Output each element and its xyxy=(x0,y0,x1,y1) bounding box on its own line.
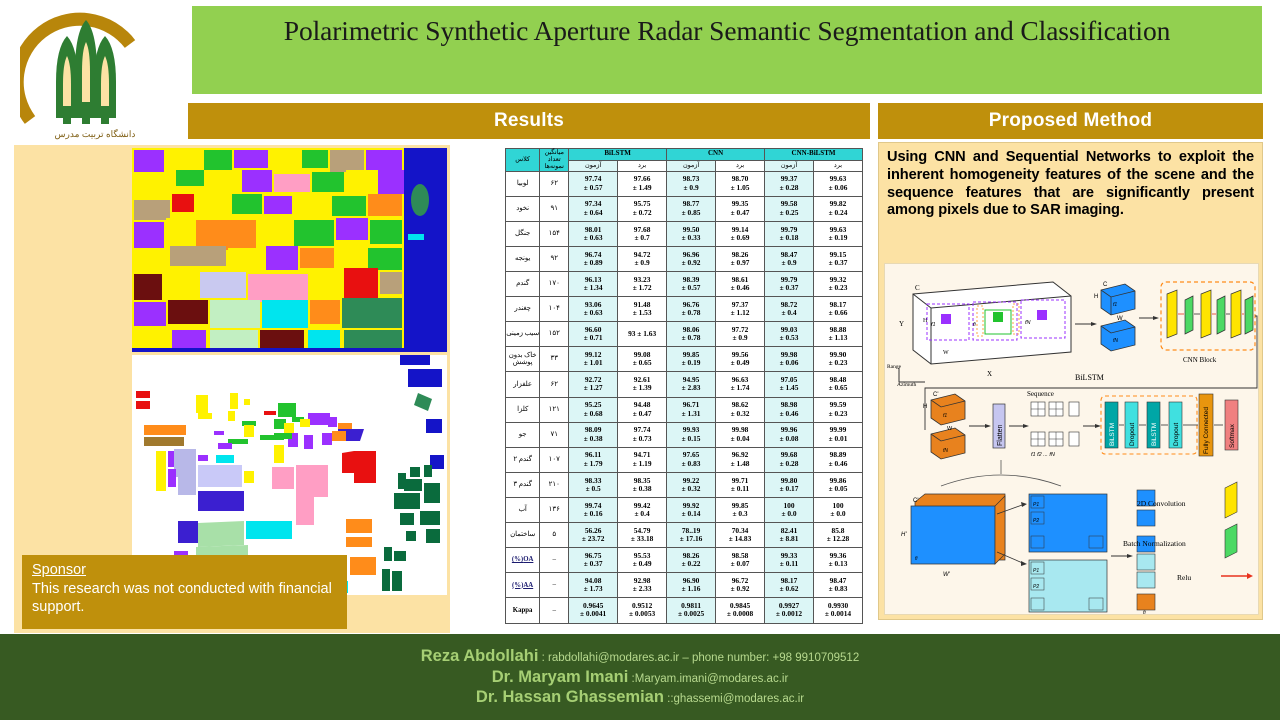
cell-value-3-1: 94.72± 0.9 xyxy=(618,246,667,271)
cell-class-2: جنگل xyxy=(506,221,540,246)
table-row: Kappa–0.9645± 0.00410.9512± 0.00530.9811… xyxy=(506,598,863,623)
cell-value-10-2: 99.93± 0.15 xyxy=(667,422,716,447)
cell-value-14-2: 78..19± 17.16 xyxy=(667,523,716,548)
cell-value-3-0: 96.74± 0.89 xyxy=(569,246,618,271)
cell-value-1-5: 99.82± 0.24 xyxy=(814,196,863,221)
cell-value-15-1: 95.53± 0.49 xyxy=(618,548,667,573)
table-row: گندم۱۷۰96.13± 1.3493.23± 1.7298.39± 0.57… xyxy=(506,271,863,296)
cell-value-1-2: 98.77± 0.85 xyxy=(667,196,716,221)
label-bilstm-1: BiLSTM xyxy=(1109,423,1116,446)
cell-value-4-5: 99.32± 0.23 xyxy=(814,271,863,296)
label-Cprime2: C' xyxy=(913,498,918,504)
cell-value-13-1: 99.42± 0.4 xyxy=(618,497,667,522)
cell-value-17-3: 0.9845± 0.0008 xyxy=(716,598,765,623)
table-row: AA(%)–94.08± 1.7392.98± 2.3396.90± 1.169… xyxy=(506,573,863,598)
contact-line-3: Dr. Hassan Ghassemian ::ghassemi@modares… xyxy=(476,688,804,707)
results-label: Results xyxy=(494,110,564,132)
label-W2: W xyxy=(1117,316,1123,322)
label-H3: H xyxy=(923,404,927,410)
cell-value-8-1: 92.61± 1.39 xyxy=(618,372,667,397)
cell-value-8-2: 94.95± 2.83 xyxy=(667,372,716,397)
author-contact-2: :Maryam.imani@modares.ac.ir xyxy=(628,673,788,685)
classification-result-map xyxy=(132,148,447,352)
cell-value-4-4: 99.79± 0.37 xyxy=(765,271,814,296)
cell-count-8: ۶۲ xyxy=(540,372,569,397)
university-logo: دانشگاه تربیت مدرس xyxy=(0,0,190,150)
cell-value-9-1: 94.48± 0.47 xyxy=(618,397,667,422)
cell-value-6-2: 98.06± 0.78 xyxy=(667,322,716,347)
cell-value-1-3: 99.35± 0.47 xyxy=(716,196,765,221)
label-p11: P1 xyxy=(1033,502,1039,508)
cell-value-12-3: 99.71± 0.11 xyxy=(716,472,765,497)
cell-count-6: ۱۵۲ xyxy=(540,322,569,347)
th-sub-2-1: برد xyxy=(814,160,863,171)
table-row: OA(%)–96.75± 0.3795.53± 0.4998.26± 0.229… xyxy=(506,548,863,573)
author-contact-1: : rabdollahi@modares.ac.ir – phone numbe… xyxy=(538,652,859,664)
poster-root: دانشگاه تربیت مدرس Polarimetric Syntheti… xyxy=(0,0,1280,720)
cell-class-4: گندم xyxy=(506,271,540,296)
label-f1c: f1 xyxy=(943,413,947,419)
cell-value-10-0: 98.09± 0.38 xyxy=(569,422,618,447)
legend-relu: Relu xyxy=(1177,573,1191,582)
cell-value-13-4: 100± 0.0 xyxy=(765,497,814,522)
label-X: X xyxy=(987,370,992,378)
label-dropout-2: Dropout xyxy=(1173,423,1180,446)
table-row: جو۷۱98.09± 0.3897.74± 0.7399.93± 0.1599.… xyxy=(506,422,863,447)
cell-class-10: جو xyxy=(506,422,540,447)
cell-class-6: سیب زمینی xyxy=(506,322,540,347)
cell-value-8-0: 92.72± 1.27 xyxy=(569,372,618,397)
cell-value-12-4: 99.80± 0.17 xyxy=(765,472,814,497)
cell-value-16-4: 98.17± 0.62 xyxy=(765,573,814,598)
cell-value-16-2: 96.90± 1.16 xyxy=(667,573,716,598)
section-header-proposed-method: Proposed Method xyxy=(878,103,1263,139)
cell-value-7-1: 99.08± 0.65 xyxy=(618,347,667,372)
cell-value-13-5: 100± 0.0 xyxy=(814,497,863,522)
cell-value-6-0: 96.60± 0.71 xyxy=(569,322,618,347)
cell-class-3: یونجه xyxy=(506,246,540,271)
table-row: ساختمان۵56.26± 23.7254.79± 33.1878..19± … xyxy=(506,523,863,548)
cell-value-8-3: 96.63± 1.74 xyxy=(716,372,765,397)
sponsor-title: Sponsor xyxy=(32,561,339,580)
cell-value-7-5: 99.90± 0.23 xyxy=(814,347,863,372)
th-sub-1-1: برد xyxy=(716,160,765,171)
cell-value-15-0: 96.75± 0.37 xyxy=(569,548,618,573)
cell-count-3: ۹۲ xyxy=(540,246,569,271)
cell-value-14-1: 54.79± 33.18 xyxy=(618,523,667,548)
cell-class-13: آب xyxy=(506,497,540,522)
cell-value-2-5: 99.63± 0.19 xyxy=(814,221,863,246)
cell-value-9-2: 96.71± 1.31 xyxy=(667,397,716,422)
cell-value-2-1: 97.68± 0.7 xyxy=(618,221,667,246)
author-name-2: Dr. Maryam Imani xyxy=(492,668,629,686)
cell-value-11-3: 96.92± 1.48 xyxy=(716,447,765,472)
cell-value-10-1: 97.74± 0.73 xyxy=(618,422,667,447)
label-softmax: Softmax xyxy=(1229,423,1236,448)
table-row: گندم ۳۲۱۰98.33± 0.598.35± 0.3899.22± 0.3… xyxy=(506,472,863,497)
cell-class-1: نخود xyxy=(506,196,540,221)
cell-value-8-4: 97.05± 1.45 xyxy=(765,372,814,397)
proposed-method-panel: Using CNN and Sequential Networks to exp… xyxy=(878,142,1263,620)
cell-count-17: – xyxy=(540,598,569,623)
architecture-diagram: C Y H W X Range Azimuth xyxy=(884,263,1259,615)
cell-class-9: کلزا xyxy=(506,397,540,422)
label-W3: W xyxy=(947,426,953,432)
th-sub-2-0: آزمون xyxy=(765,160,814,171)
cell-value-2-0: 98.01± 0.63 xyxy=(569,221,618,246)
cell-value-0-2: 98.73± 0.9 xyxy=(667,171,716,196)
cell-class-15: OA(%) xyxy=(506,548,540,573)
contact-line-1: Reza Abdollahi : rabdollahi@modares.ac.i… xyxy=(421,647,859,666)
label-Wprime: W' xyxy=(943,572,951,578)
cell-value-12-1: 98.35± 0.38 xyxy=(618,472,667,497)
page-title: Polarimetric Synthetic Aperture Radar Se… xyxy=(284,15,1171,47)
cell-value-15-3: 98.58± 0.07 xyxy=(716,548,765,573)
cell-value-12-5: 99.86± 0.05 xyxy=(814,472,863,497)
cell-value-6-1: 93 ± 1.63 xyxy=(618,322,667,347)
cell-value-9-3: 98.62± 0.32 xyxy=(716,397,765,422)
architecture-diagram-svg: C Y H W X Range Azimuth xyxy=(885,264,1258,614)
label-W: W xyxy=(943,350,949,356)
label-C2: C xyxy=(1103,282,1108,288)
cell-value-5-1: 91.48± 1.53 xyxy=(618,297,667,322)
label-sequence: Sequence xyxy=(1027,390,1054,398)
table-row: گندم ۲۱۰۷96.11± 1.7994.71± 1.1997.65± 0.… xyxy=(506,447,863,472)
method-label: Proposed Method xyxy=(989,110,1152,132)
label-seq-items: f1 f2 ... fN xyxy=(1031,452,1055,458)
th-group-2: CNN-BiLSTM xyxy=(765,149,863,161)
cell-value-2-2: 99.50± 0.33 xyxy=(667,221,716,246)
cell-value-0-4: 99.37± 0.28 xyxy=(765,171,814,196)
cell-count-13: ۱۳۶ xyxy=(540,497,569,522)
table-row: کلزا۱۲۱95.25± 0.6894.48± 0.4796.71± 1.31… xyxy=(506,397,863,422)
cell-class-5: چغندر xyxy=(506,297,540,322)
label-bilstm-2: BiLSTM xyxy=(1151,423,1158,446)
label-azimuth: Azimuth xyxy=(897,382,916,388)
cell-value-7-2: 99.85± 0.19 xyxy=(667,347,716,372)
label-f1: f1 xyxy=(931,322,936,328)
cell-count-9: ۱۲۱ xyxy=(540,397,569,422)
contact-footer: Reza Abdollahi : rabdollahi@modares.ac.i… xyxy=(0,634,1280,720)
cell-class-8: علفزار xyxy=(506,372,540,397)
method-description: Using CNN and Sequential Networks to exp… xyxy=(879,143,1262,224)
cell-value-16-0: 94.08± 1.73 xyxy=(569,573,618,598)
cell-value-17-1: 0.9512± 0.0053 xyxy=(618,598,667,623)
cell-value-3-2: 96.96± 0.92 xyxy=(667,246,716,271)
cell-count-12: ۲۱۰ xyxy=(540,472,569,497)
cell-value-11-0: 96.11± 1.79 xyxy=(569,447,618,472)
cell-value-5-3: 97.37± 1.12 xyxy=(716,297,765,322)
cell-class-14: ساختمان xyxy=(506,523,540,548)
sponsor-box: Sponsor This research was not conducted … xyxy=(22,555,347,629)
table-row: علفزار۶۲92.72± 1.2792.61± 1.3994.95± 2.8… xyxy=(506,372,863,397)
cell-value-7-0: 99.12± 1.01 xyxy=(569,347,618,372)
cell-count-11: ۱۰۷ xyxy=(540,447,569,472)
cell-value-13-0: 99.74± 0.16 xyxy=(569,497,618,522)
poster-title-banner: Polarimetric Synthetic Aperture Radar Se… xyxy=(192,6,1262,94)
cell-value-11-4: 99.68± 0.28 xyxy=(765,447,814,472)
th-sub-1-0: آزمون xyxy=(667,160,716,171)
th-sample-count: میانگین تعداد نمونه‌ها xyxy=(540,149,569,172)
cell-value-2-4: 99.79± 0.18 xyxy=(765,221,814,246)
cell-count-15: – xyxy=(540,548,569,573)
cell-value-11-1: 94.71± 1.19 xyxy=(618,447,667,472)
cell-value-4-3: 98.61± 0.46 xyxy=(716,271,765,296)
cell-value-6-5: 98.88± 1.13 xyxy=(814,322,863,347)
cell-value-5-4: 98.72± 0.4 xyxy=(765,297,814,322)
cell-value-10-5: 99.99± 0.01 xyxy=(814,422,863,447)
label-dropout-1: Dropout xyxy=(1129,423,1136,446)
label-fully-connected: Fully Connected xyxy=(1203,407,1210,454)
cell-count-0: ۶۲ xyxy=(540,171,569,196)
table-row: نخود۹۱97.34± 0.6495.75± 0.7298.77± 0.859… xyxy=(506,196,863,221)
label-flatten: Flatten xyxy=(997,424,1004,446)
label-p21: P2 xyxy=(1033,518,1039,524)
table-row: آب۱۳۶99.74± 0.1699.42± 0.499.92± 0.1499.… xyxy=(506,497,863,522)
results-table: کلاسمیانگین تعداد نمونه‌هاBiLSTMCNNCNN-B… xyxy=(505,148,863,624)
cell-value-4-1: 93.23± 1.72 xyxy=(618,271,667,296)
cell-value-6-4: 99.03± 0.53 xyxy=(765,322,814,347)
cell-value-0-1: 97.66± 1.49 xyxy=(618,171,667,196)
cell-class-11: گندم ۲ xyxy=(506,447,540,472)
label-Hprime: H' xyxy=(901,532,907,538)
table-row: یونجه۹۲96.74± 0.8994.72± 0.996.96± 0.929… xyxy=(506,246,863,271)
cell-value-14-5: 85.8± 12.28 xyxy=(814,523,863,548)
legend-2d-convolution: 2D Convolution xyxy=(1137,499,1186,508)
cell-value-16-3: 96.72± 0.92 xyxy=(716,573,765,598)
th-group-0: BiLSTM xyxy=(569,149,667,161)
cell-value-14-4: 82.41± 8.81 xyxy=(765,523,814,548)
sponsor-text: This research was not conducted with fin… xyxy=(32,581,332,616)
th-class: کلاس xyxy=(506,149,540,172)
label-fnc: fN xyxy=(943,448,948,454)
label-C: C xyxy=(915,284,920,292)
cell-value-0-0: 97.74± 0.57 xyxy=(569,171,618,196)
classified-map-image xyxy=(132,148,447,352)
label-cnn-block: CNN Block xyxy=(1183,356,1217,364)
cell-class-7: خاک بدون پوشش xyxy=(506,347,540,372)
cell-count-2: ۱۵۴ xyxy=(540,221,569,246)
cell-value-0-3: 98.70± 1.05 xyxy=(716,171,765,196)
cell-value-4-2: 98.39± 0.57 xyxy=(667,271,716,296)
label-Y: Y xyxy=(899,320,904,328)
label-fnb: fN xyxy=(1113,338,1118,344)
section-header-results: Results xyxy=(188,103,870,139)
cell-value-17-2: 0.9811± 0.0025 xyxy=(667,598,716,623)
th-sub-0-1: برد xyxy=(618,160,667,171)
author-contact-3: ::ghassemi@modares.ac.ir xyxy=(664,693,804,705)
cell-value-9-0: 95.25± 0.68 xyxy=(569,397,618,422)
label-bilstm-section: BiLSTM xyxy=(1075,373,1104,382)
cell-value-11-5: 98.89± 0.46 xyxy=(814,447,863,472)
contact-line-2: Dr. Maryam Imani :Maryam.imani@modares.a… xyxy=(492,668,789,687)
cell-count-5: ۱۰۴ xyxy=(540,297,569,322)
cell-class-17: Kappa xyxy=(506,598,540,623)
cell-value-17-4: 0.9927± 0.0012 xyxy=(765,598,814,623)
cell-value-15-2: 98.26± 0.22 xyxy=(667,548,716,573)
cell-value-16-5: 98.47± 0.83 xyxy=(814,573,863,598)
cell-value-3-3: 98.26± 0.97 xyxy=(716,246,765,271)
cell-value-6-3: 97.72± 0.9 xyxy=(716,322,765,347)
label-f1b: f1 xyxy=(1113,302,1117,308)
cell-class-12: گندم ۳ xyxy=(506,472,540,497)
cell-value-15-4: 99.33± 0.11 xyxy=(765,548,814,573)
cell-value-12-2: 99.22± 0.32 xyxy=(667,472,716,497)
cell-value-7-3: 99.56± 0.49 xyxy=(716,347,765,372)
th-sub-0-0: آزمون xyxy=(569,160,618,171)
results-maps-panel: Sponsor This research was not conducted … xyxy=(14,145,450,633)
cell-value-9-4: 98.98± 0.46 xyxy=(765,397,814,422)
label-p22: P2 xyxy=(1033,584,1039,590)
label-p12: P1 xyxy=(1033,568,1039,574)
table-row: جنگل۱۵۴98.01± 0.6397.68± 0.799.50± 0.339… xyxy=(506,221,863,246)
cell-value-13-2: 99.92± 0.14 xyxy=(667,497,716,522)
legend-batch-normalization: Batch Normalization xyxy=(1123,539,1186,548)
cell-value-5-2: 96.76± 0.78 xyxy=(667,297,716,322)
logo-mark xyxy=(20,10,170,128)
cell-value-0-5: 99.63± 0.06 xyxy=(814,171,863,196)
cell-value-1-0: 97.34± 0.64 xyxy=(569,196,618,221)
cell-value-1-4: 99.58± 0.25 xyxy=(765,196,814,221)
table-header: کلاسمیانگین تعداد نمونه‌هاBiLSTMCNNCNN-B… xyxy=(506,149,863,172)
cell-value-1-1: 95.75± 0.72 xyxy=(618,196,667,221)
cell-class-16: AA(%) xyxy=(506,573,540,598)
cell-count-1: ۹۱ xyxy=(540,196,569,221)
author-name-1: Reza Abdollahi xyxy=(421,647,539,665)
cell-value-3-5: 99.15± 0.37 xyxy=(814,246,863,271)
table-row: لوبیا۶۲97.74± 0.5797.66± 1.4998.73± 0.99… xyxy=(506,171,863,196)
table-body: لوبیا۶۲97.74± 0.5797.66± 1.4998.73± 0.99… xyxy=(506,171,863,623)
cell-value-7-4: 99.98± 0.06 xyxy=(765,347,814,372)
logo-caption: دانشگاه تربیت مدرس xyxy=(55,129,136,140)
cell-value-17-0: 0.9645± 0.0041 xyxy=(569,598,618,623)
label-Cprime: C' xyxy=(933,392,938,398)
cell-value-14-3: 70.34± 14.83 xyxy=(716,523,765,548)
cell-count-16: – xyxy=(540,573,569,598)
label-H2: H xyxy=(1094,294,1098,300)
cell-value-5-0: 93.06± 0.63 xyxy=(569,297,618,322)
cell-value-10-3: 99.98± 0.04 xyxy=(716,422,765,447)
cell-value-8-5: 98.48± 0.65 xyxy=(814,372,863,397)
cell-value-15-5: 99.36± 0.13 xyxy=(814,548,863,573)
cell-value-2-3: 99.14± 0.69 xyxy=(716,221,765,246)
cell-value-16-1: 92.98± 2.33 xyxy=(618,573,667,598)
cell-value-4-0: 96.13± 1.34 xyxy=(569,271,618,296)
table-row: سیب زمینی۱۵۲96.60± 0.7193 ± 1.6398.06± 0… xyxy=(506,322,863,347)
cell-count-10: ۷۱ xyxy=(540,422,569,447)
cell-value-3-4: 98.47± 0.9 xyxy=(765,246,814,271)
cell-value-9-5: 99.59± 0.23 xyxy=(814,397,863,422)
cell-value-5-5: 98.17± 0.66 xyxy=(814,297,863,322)
cell-value-11-2: 97.65± 0.83 xyxy=(667,447,716,472)
cell-count-14: ۵ xyxy=(540,523,569,548)
table-row: خاک بدون پوشش۳۳99.12± 1.0199.08± 0.6599.… xyxy=(506,347,863,372)
th-group-1: CNN xyxy=(667,149,765,161)
cell-value-10-4: 99.96± 0.08 xyxy=(765,422,814,447)
cell-value-14-0: 56.26± 23.72 xyxy=(569,523,618,548)
label-fn: fN xyxy=(1025,320,1031,326)
author-name-3: Dr. Hassan Ghassemian xyxy=(476,688,664,706)
cell-count-4: ۱۷۰ xyxy=(540,271,569,296)
cell-count-7: ۳۳ xyxy=(540,347,569,372)
cell-value-12-0: 98.33± 0.5 xyxy=(569,472,618,497)
table-row: چغندر۱۰۴93.06± 0.6391.48± 1.5396.76± 0.7… xyxy=(506,297,863,322)
cell-value-13-3: 99.85± 0.3 xyxy=(716,497,765,522)
cell-value-17-5: 0.9930± 0.0014 xyxy=(814,598,863,623)
results-table-container: کلاسمیانگین تعداد نمونه‌هاBiLSTMCNNCNN-B… xyxy=(505,148,863,618)
cell-class-0: لوبیا xyxy=(506,171,540,196)
